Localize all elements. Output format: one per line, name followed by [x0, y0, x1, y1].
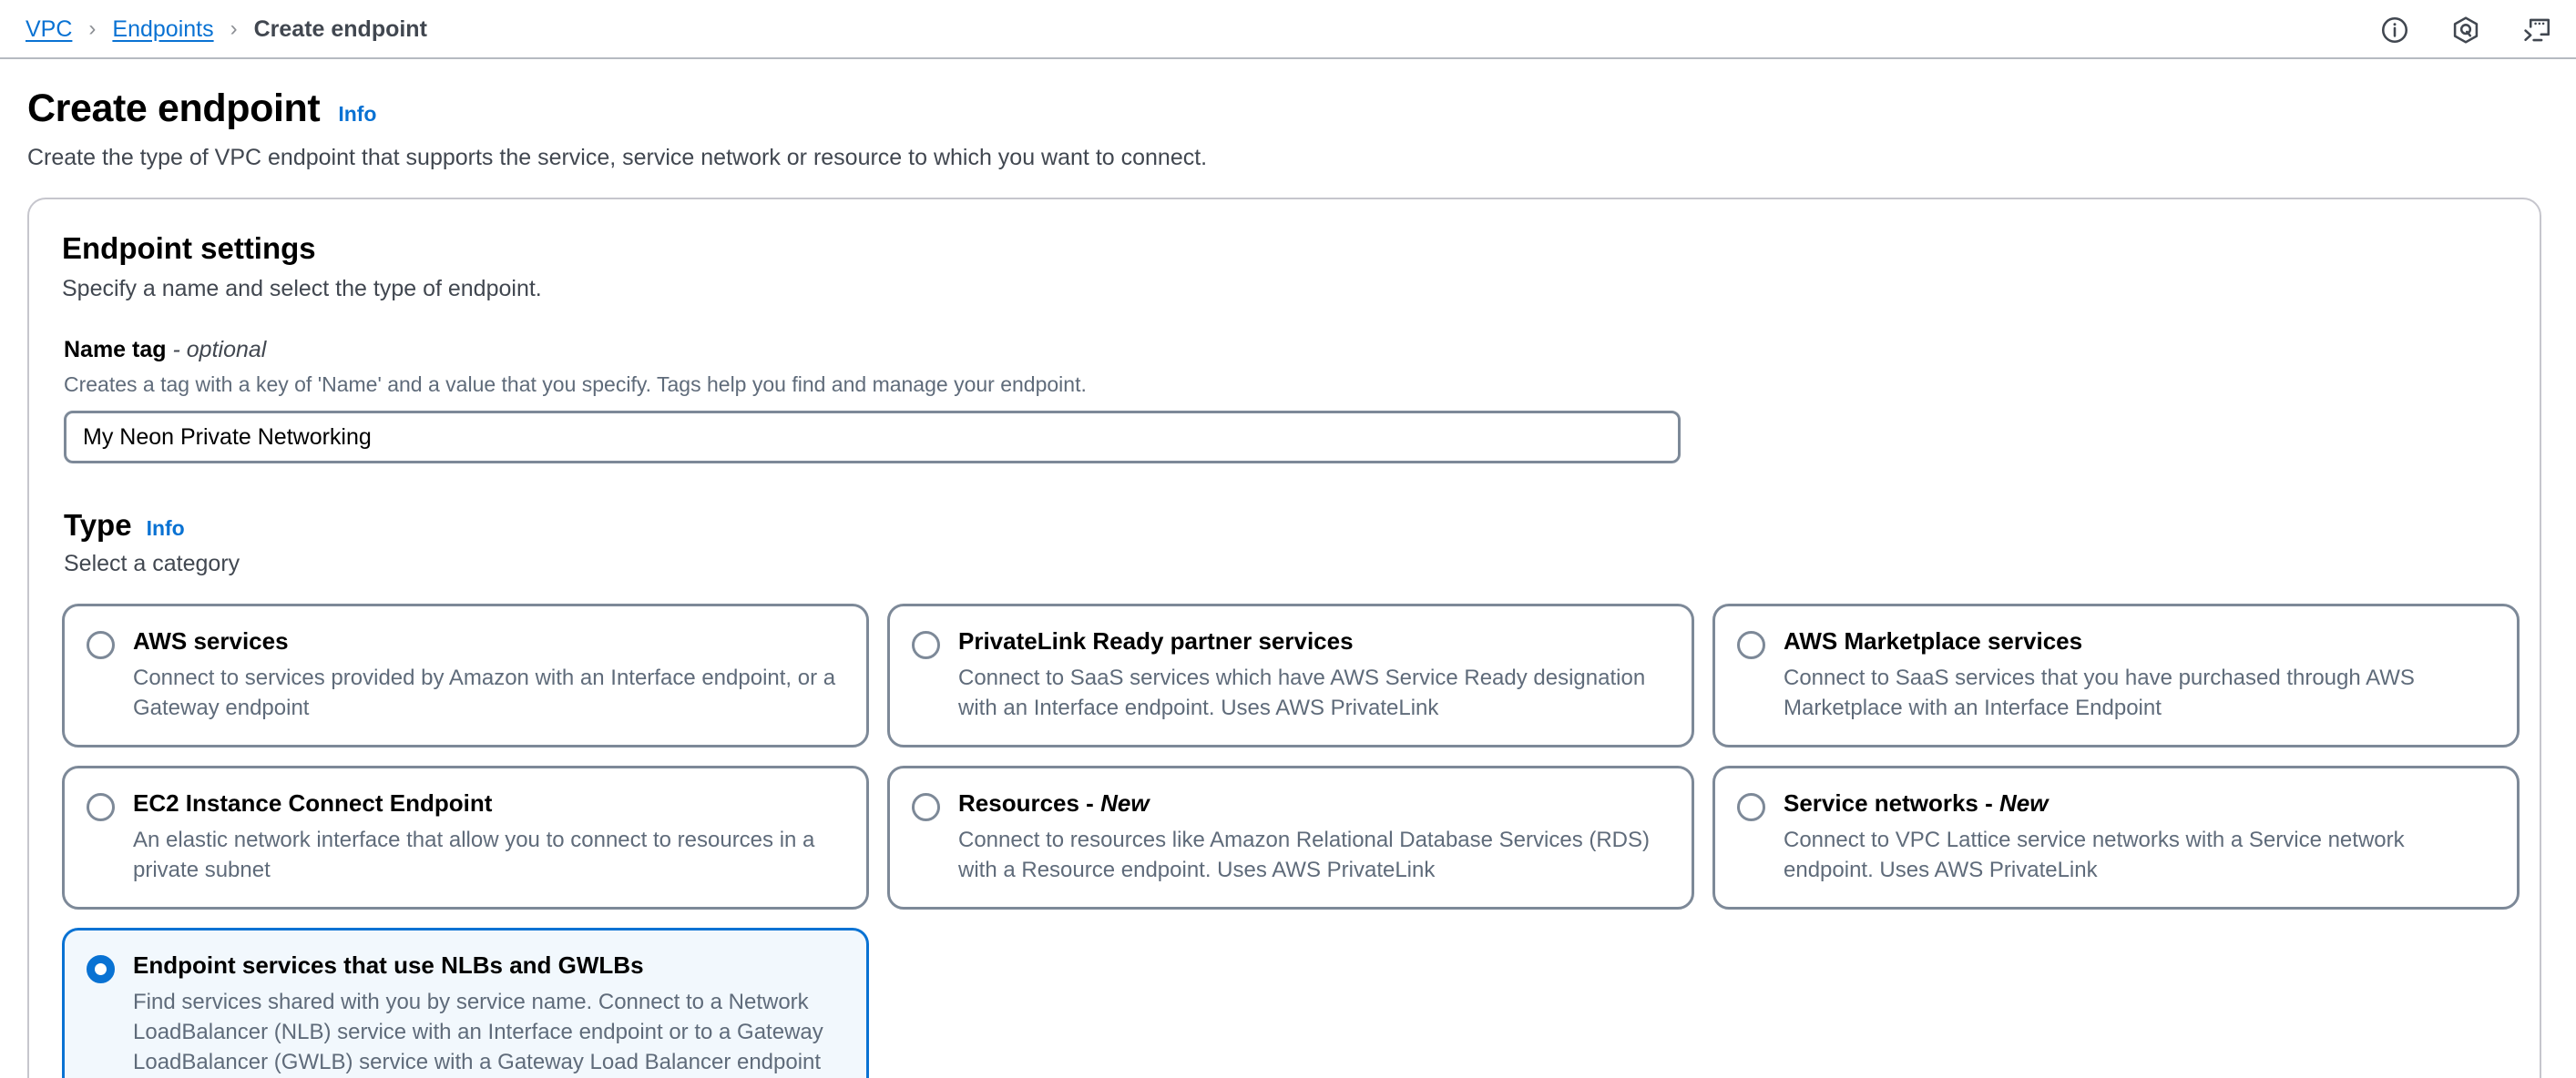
info-icon[interactable] [2379, 15, 2410, 46]
type-option-label: PrivateLink Ready partner services [958, 626, 1670, 656]
endpoint-settings-card: Endpoint settings Specify a name and sel… [27, 198, 2541, 1078]
radio-icon[interactable] [87, 793, 115, 821]
name-tag-input[interactable] [64, 411, 1681, 463]
type-section-header: Type Info Select a category [62, 507, 2507, 578]
type-option-label: Service networks - New [1784, 788, 2495, 819]
type-option-privatelink-ready-partner-services[interactable]: PrivateLink Ready partner services Conne… [887, 604, 1694, 747]
cloudshell-icon[interactable] [2521, 15, 2552, 46]
name-tag-label-text: Name tag [64, 337, 167, 362]
type-option-description: Connect to SaaS services that you have p… [1784, 663, 2495, 723]
name-tag-label: Name tag - optional [64, 336, 2507, 363]
radio-icon-selected[interactable] [87, 955, 115, 983]
section-title: Endpoint settings [62, 230, 2507, 267]
breadcrumb-item-create-endpoint[interactable]: Create endpoint [254, 15, 427, 43]
type-description: Select a category [64, 549, 2507, 578]
amazon-q-icon[interactable] [2450, 15, 2481, 46]
type-option-label: Resources - New [958, 788, 1670, 819]
new-badge: New [1100, 789, 1149, 817]
breadcrumb-item-endpoints[interactable]: Endpoints [112, 15, 213, 43]
type-option-description: Find services shared with you by service… [133, 987, 844, 1077]
name-tag-optional-text: - optional [173, 337, 267, 362]
type-option-description: Connect to VPC Lattice service networks … [1784, 825, 2495, 885]
type-option-ec2-instance-connect-endpoint[interactable]: EC2 Instance Connect Endpoint An elastic… [62, 766, 869, 910]
type-option-endpoint-services-nlb-gwlb[interactable]: Endpoint services that use NLBs and GWLB… [62, 928, 869, 1078]
top-bar: VPC › Endpoints › Create endpoint [0, 0, 2576, 59]
type-title: Type [64, 507, 132, 544]
type-option-label: EC2 Instance Connect Endpoint [133, 788, 844, 819]
breadcrumb: VPC › Endpoints › Create endpoint [26, 15, 427, 43]
page-description: Create the type of VPC endpoint that sup… [27, 143, 2549, 172]
type-info-link[interactable]: Info [147, 515, 185, 541]
type-radio-group: AWS services Connect to services provide… [62, 604, 2507, 1078]
type-option-description: Connect to resources like Amazon Relatio… [958, 825, 1670, 885]
section-description: Specify a name and select the type of en… [62, 274, 2507, 303]
type-option-description: An elastic network interface that allow … [133, 825, 844, 885]
radio-icon[interactable] [1737, 793, 1765, 821]
type-option-aws-marketplace-services[interactable]: AWS Marketplace services Connect to SaaS… [1712, 604, 2520, 747]
type-option-label: AWS Marketplace services [1784, 626, 2495, 656]
type-option-description: Connect to services provided by Amazon w… [133, 663, 844, 723]
type-option-aws-services[interactable]: AWS services Connect to services provide… [62, 604, 869, 747]
breadcrumb-item-vpc[interactable]: VPC [26, 15, 72, 43]
new-badge: New [1999, 789, 2048, 817]
page-title: Create endpoint [27, 85, 320, 132]
type-option-label: Endpoint services that use NLBs and GWLB… [133, 951, 844, 981]
breadcrumb-separator: › [88, 15, 96, 43]
top-bar-icons [2379, 0, 2552, 59]
type-option-resources[interactable]: Resources - New Connect to resources lik… [887, 766, 1694, 910]
type-option-label: AWS services [133, 626, 844, 656]
radio-icon[interactable] [87, 631, 115, 659]
breadcrumb-separator: › [230, 15, 238, 43]
radio-icon[interactable] [1737, 631, 1765, 659]
type-option-service-networks[interactable]: Service networks - New Connect to VPC La… [1712, 766, 2520, 910]
page-info-link[interactable]: Info [338, 101, 376, 127]
type-option-label-text: Resources - [958, 789, 1100, 817]
type-option-label-text: Service networks - [1784, 789, 1999, 817]
page-header: Create endpoint Info Create the type of … [0, 59, 2576, 172]
radio-icon[interactable] [912, 631, 940, 659]
name-tag-field: Name tag - optional Creates a tag with a… [62, 336, 2507, 463]
radio-icon[interactable] [912, 793, 940, 821]
name-tag-description: Creates a tag with a key of 'Name' and a… [64, 371, 2507, 398]
type-option-description: Connect to SaaS services which have AWS … [958, 663, 1670, 723]
